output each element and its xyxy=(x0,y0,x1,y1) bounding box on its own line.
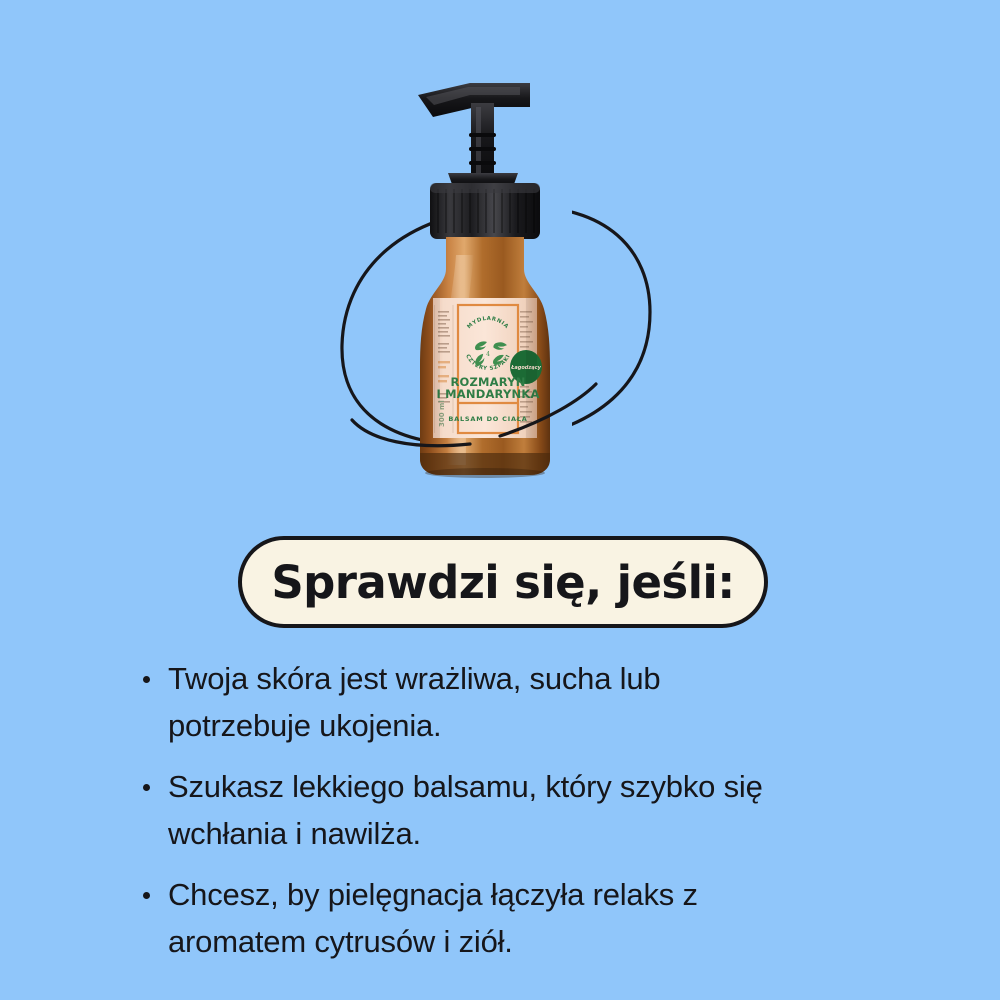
bottle-cap xyxy=(430,183,540,239)
list-item: Chcesz, by pielęgnacja łączyła relaks z … xyxy=(140,871,780,965)
list-item: Szukasz lekkiego balsamu, który szybko s… xyxy=(140,763,780,857)
bullet-dot-icon xyxy=(143,784,150,791)
list-item-text: Chcesz, by pielęgnacja łączyła relaks z … xyxy=(168,877,698,959)
poster-canvas: 300 ml xyxy=(0,0,1000,1000)
benefits-list: Twoja skóra jest wrażliwa, sucha lub pot… xyxy=(140,655,860,979)
svg-text:4: 4 xyxy=(486,351,490,358)
list-item-text: Szukasz lekkiego balsamu, który szybko s… xyxy=(168,769,763,851)
bottle-label: 300 ml xyxy=(433,298,542,438)
label-product-name-line2: I MANDARYNKA xyxy=(436,387,539,401)
product-bottle: 300 ml xyxy=(330,55,670,485)
list-item-text: Twoja skóra jest wrażliwa, sucha lub pot… xyxy=(168,661,660,743)
list-item: Twoja skóra jest wrażliwa, sucha lub pot… xyxy=(140,655,780,749)
heading-pill: Sprawdzi się, jeśli: xyxy=(238,536,768,628)
pump-head-icon xyxy=(418,83,530,187)
bullet-dot-icon xyxy=(143,892,150,899)
page-title: Sprawdzi się, jeśli: xyxy=(271,560,734,605)
label-product-type: BALSAM DO CIAŁA xyxy=(448,415,527,423)
bullet-dot-icon xyxy=(143,676,150,683)
